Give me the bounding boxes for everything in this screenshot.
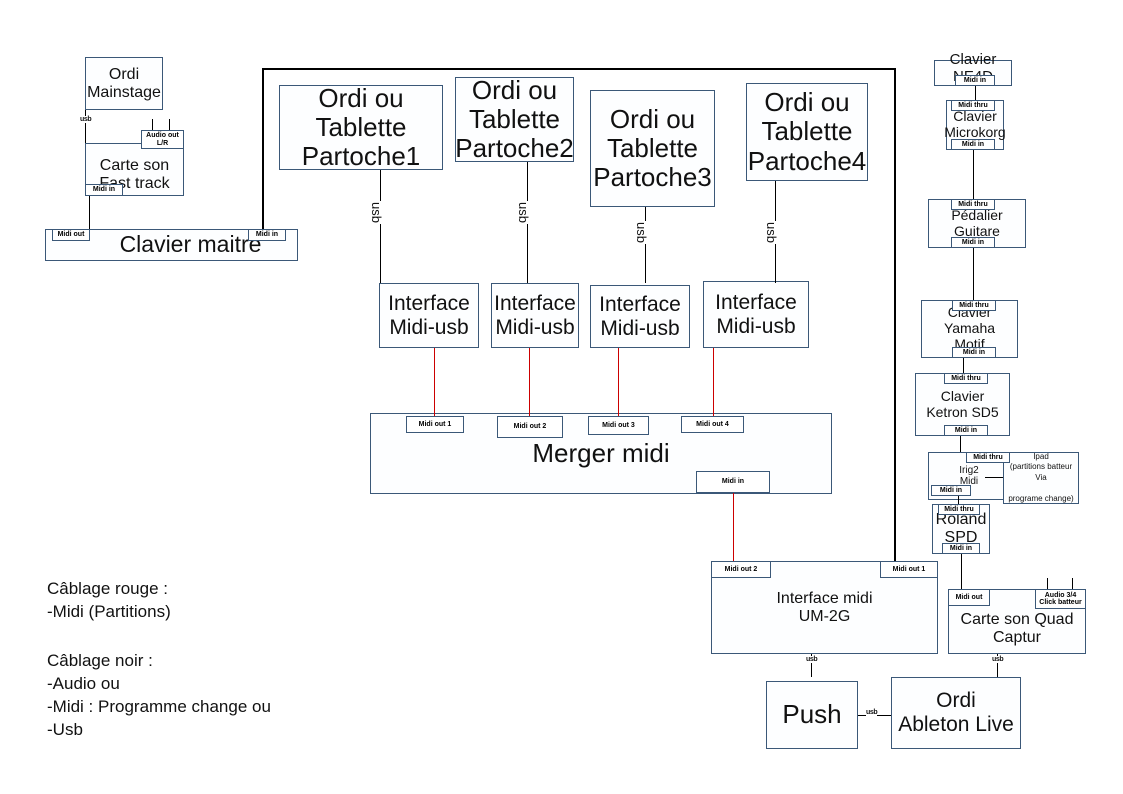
cable-partoche1-interface1 [380,170,381,283]
port-merger-midi-out-1[interactable]: Midi out 1 [406,416,464,433]
port-um2g-midi-out-2[interactable]: Midi out 2 [711,561,771,578]
port-irig2-midi-thru[interactable]: Midi thru [966,452,1010,463]
port-carteson-midi-in[interactable]: Midi in [85,184,123,196]
port-yamaha-midi-thru[interactable]: Midi thru [952,300,996,311]
port-quadcaptur-midi-out[interactable]: Midi out [948,589,990,606]
node-label: Clavier maitre [80,232,264,258]
cable-partoche3-interface3 [645,207,646,283]
cable-label-usb-4: usb [764,221,779,244]
usb-connector-icon: usb [866,709,877,716]
node-label: Interface Midi-usb [713,291,799,338]
port-yamaha-midi-in[interactable]: Midi in [952,347,996,358]
cable-interface1-merger [434,348,435,416]
node-partoche2[interactable]: Ordi ou Tablette Partoche2 [455,77,574,162]
cable-audio-4 [1072,578,1073,589]
node-label: Ipad (partitions batteur Via programe ch… [1006,452,1075,504]
node-label: Push [780,700,843,729]
node-partoche4[interactable]: Ordi ou Tablette Partoche4 [746,83,868,181]
port-ketron-midi-in[interactable]: Midi in [944,425,988,436]
port-roland-midi-thru[interactable]: Midi thru [938,504,980,515]
node-ipad[interactable]: Ipad (partitions batteur Via programe ch… [1003,452,1079,504]
legend-black-cabling: Câblage noir : -Audio ou -Midi : Program… [47,650,271,742]
port-microkorg-midi-in[interactable]: Midi in [951,139,995,150]
node-label: Ordi Ableton Live [896,689,1016,736]
port-pedalier-midi-in[interactable]: Midi in [951,237,995,248]
usb-connector-icon: usb [992,656,1003,663]
node-push[interactable]: Push [766,681,858,749]
cable-mainstage-carteson [85,110,86,143]
port-ne4d-midi-in[interactable]: Midi in [955,75,995,86]
cable-um2g-vertical [894,68,896,565]
node-label: Ordi ou Tablette Partoche4 [746,88,869,175]
node-label: Interface Midi-usb [386,292,472,339]
port-claviermaitre-midi-in[interactable]: Midi in [248,229,286,241]
node-label: Clavier NE4D [935,52,1011,94]
node-ordi-mainstage[interactable]: Ordi Mainstage [85,57,163,110]
cable-claviermaitre-vertical [262,68,264,231]
cable-carteson-claviermaitre [89,196,90,229]
cable-microkorg-pedalier [973,150,974,199]
port-pedalier-midi-thru[interactable]: Midi thru [951,199,995,210]
diagram-canvas: Ordi Mainstage usb Carte son Fast track … [0,0,1123,794]
port-merger-midi-in[interactable]: Midi in [696,471,770,493]
port-audio-34-click-batteur[interactable]: Audio 3/4 Click batteur [1035,589,1086,609]
cable-irig2-ipad [985,477,1003,478]
cable-ne4d-microkorg [975,86,976,100]
port-um2g-midi-out-1[interactable]: Midi out 1 [880,561,938,578]
node-label: Merger midi [530,439,671,468]
cable-label-usb-1: usb [369,201,384,224]
usb-connector-icon: usb [80,116,91,123]
node-label: Ordi Mainstage [85,66,163,102]
legend-red-cabling: Câblage rouge : -Midi (Partitions) [47,578,171,624]
usb-connector-icon: usb [806,656,817,663]
port-audio-out-lr[interactable]: Audio out L/R [141,130,184,149]
cable-interface2-merger [529,348,530,416]
cable-pedalier-yamaha [973,248,974,300]
node-label: Ordi ou Tablette Partoche1 [300,84,423,171]
cable-label-usb-3: usb [634,221,649,244]
cable-audio-out-l [152,119,153,130]
port-claviermaitre-midi-out[interactable]: Midi out [52,229,90,241]
node-label: Irig2 Midi [957,465,980,487]
port-ketron-midi-thru[interactable]: Midi thru [944,373,988,384]
port-microkorg-midi-thru[interactable]: Midi thru [951,100,995,111]
port-irig2-midi-in[interactable]: Midi in [931,485,971,496]
cable-interface3-merger [618,348,619,416]
cable-roland-quadcaptur [961,554,962,589]
cable-label-usb-2: usb [516,201,531,224]
port-merger-midi-out-2[interactable]: Midi out 2 [497,416,563,438]
port-merger-midi-out-3[interactable]: Midi out 3 [588,416,649,435]
node-label: Clavier Yamaha Motif [922,305,1017,352]
cable-audio-3 [1047,578,1048,589]
node-label: Clavier Microkorg [942,109,1007,140]
cable-yamaha-ketron [963,358,964,373]
cable-ketron-irig2 [960,436,961,452]
node-partoche3[interactable]: Ordi ou Tablette Partoche3 [590,90,715,207]
node-interface3[interactable]: Interface Midi-usb [590,285,690,348]
node-label: Pédalier Guitare [949,208,1004,239]
port-roland-midi-in[interactable]: Midi in [942,543,980,554]
cable-interface4-merger [713,348,714,416]
cable-um2g-claviermaitre-horizontal [262,68,896,70]
node-label: Clavier Ketron SD5 [924,389,1000,420]
cable-irig2-roland [958,496,959,504]
node-label: Interface Midi-usb [492,292,578,339]
node-interface2[interactable]: Interface Midi-usb [491,283,579,348]
node-label: Ordi ou Tablette Partoche3 [591,105,714,192]
node-label: Roland SPD [934,511,989,547]
node-partoche1[interactable]: Ordi ou Tablette Partoche1 [279,85,443,170]
node-label: Ordi ou Tablette Partoche2 [453,76,576,163]
cable-audio-out-r [169,119,170,130]
node-label: Interface Midi-usb [597,293,683,340]
node-ordi-ableton-live[interactable]: Ordi Ableton Live [891,677,1021,749]
cable-merger-um2g [733,493,734,561]
node-interface1[interactable]: Interface Midi-usb [379,283,479,348]
node-interface4[interactable]: Interface Midi-usb [703,281,809,348]
node-label: Interface midi UM-2G [774,590,874,626]
port-merger-midi-out-4[interactable]: Midi out 4 [681,416,744,433]
